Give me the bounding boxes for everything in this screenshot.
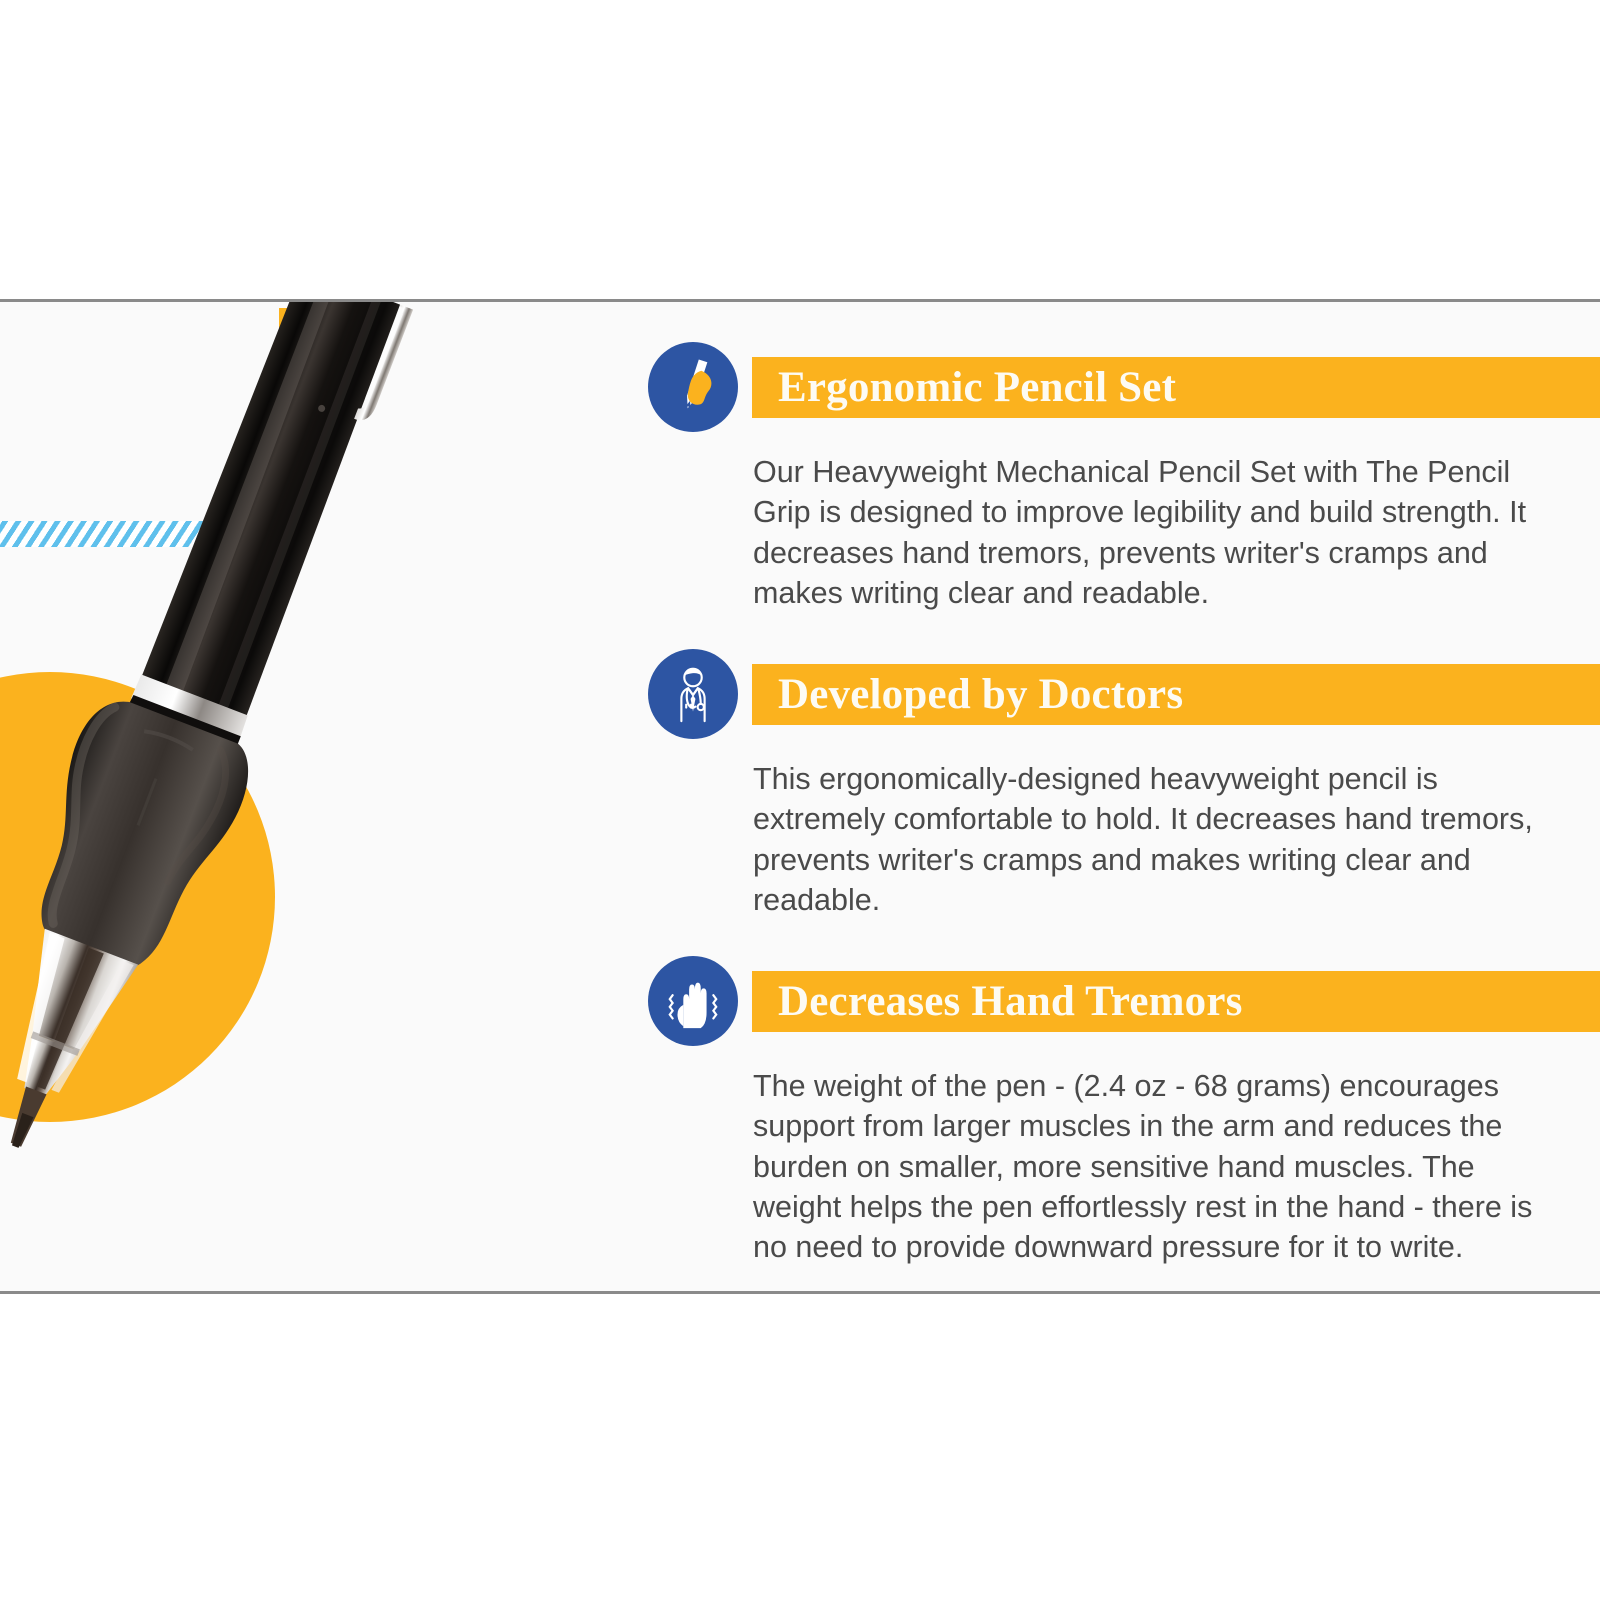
feature-card: Ergonomic Pencil Set Our Heavyweight Mec… xyxy=(0,299,1600,1294)
orange-square-decoration xyxy=(279,308,338,365)
doctor-icon xyxy=(648,649,738,739)
feature-description: The weight of the pen - (2.4 oz - 68 gra… xyxy=(648,1066,1600,1267)
pencil-grip-icon xyxy=(648,342,738,432)
feature-item-developed-by-doctors: Developed by Doctors This ergonomically-… xyxy=(648,649,1600,920)
feature-title-text: Decreases Hand Tremors xyxy=(752,980,1243,1023)
feature-description: Our Heavyweight Mechanical Pencil Set wi… xyxy=(648,452,1600,613)
infographic-page: Ergonomic Pencil Set Our Heavyweight Mec… xyxy=(0,0,1600,1600)
feature-title-banner: Ergonomic Pencil Set xyxy=(752,357,1600,418)
feature-title-text: Ergonomic Pencil Set xyxy=(752,366,1176,409)
feature-title-banner: Developed by Doctors xyxy=(752,664,1600,725)
trembling-hand-icon xyxy=(648,956,738,1046)
feature-header: Developed by Doctors xyxy=(648,649,1600,739)
feature-item-ergonomic-pencil-set: Ergonomic Pencil Set Our Heavyweight Mec… xyxy=(648,342,1600,613)
feature-description: This ergonomically-designed heavyweight … xyxy=(648,759,1600,920)
feature-header: Decreases Hand Tremors xyxy=(648,956,1600,1046)
feature-title-banner: Decreases Hand Tremors xyxy=(752,971,1600,1032)
feature-item-decreases-hand-tremors: Decreases Hand Tremors The weight of the… xyxy=(648,956,1600,1267)
feature-title-text: Developed by Doctors xyxy=(752,673,1183,716)
feature-header: Ergonomic Pencil Set xyxy=(648,342,1600,432)
orange-circle-decoration xyxy=(0,672,275,1122)
blue-diagonal-stripes-decoration xyxy=(0,521,280,547)
feature-list: Ergonomic Pencil Set Our Heavyweight Mec… xyxy=(648,342,1600,1294)
